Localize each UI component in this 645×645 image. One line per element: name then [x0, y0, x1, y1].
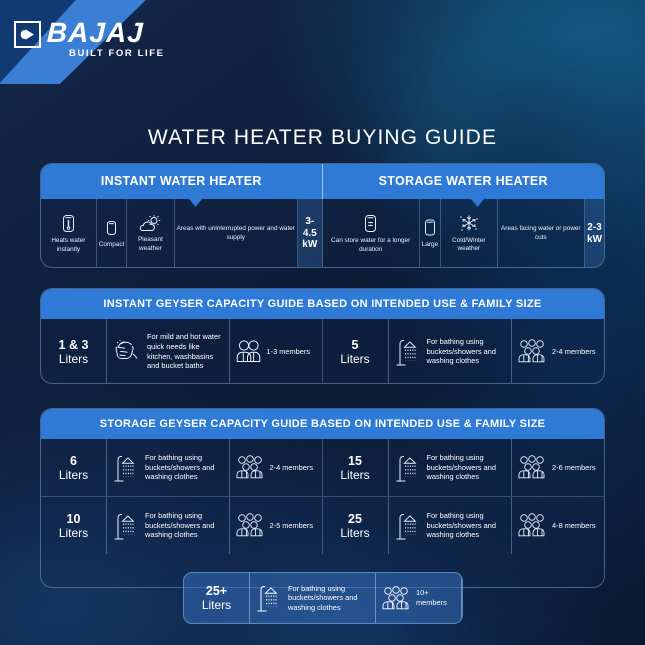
feature-label: Compact [99, 241, 125, 249]
use-text: For mild and hot water quick needs like … [147, 332, 224, 370]
water-heater-large-icon [423, 217, 437, 238]
bajaj-logo: BAJAJ BUILT FOR LIFE [14, 20, 165, 59]
shower-icon [255, 583, 282, 613]
two-people-icon [235, 339, 262, 364]
feature-label: Cold/Winter weather [443, 237, 494, 253]
use-text: For bathing using buckets/showers and wa… [427, 453, 507, 482]
shower-icon [394, 453, 421, 483]
instant-capacity-panel: INSTANT GEYSER CAPACITY GUIDE BASED ON I… [40, 288, 605, 384]
capacity-members: 2-5 members [230, 497, 322, 554]
logo-wordmark: BAJAJ [47, 20, 165, 46]
capacity-liters: 15 Liters [323, 439, 389, 496]
liters-value: 6 [70, 454, 77, 468]
power-value: 2-3 [587, 222, 601, 234]
liters-value: 25+ [206, 584, 227, 598]
storage-water-heater-title: STORAGE WATER HEATER [323, 164, 605, 199]
capacity-liters: 5 Liters [323, 319, 389, 384]
capacity-use: For mild and hot water quick needs like … [107, 319, 230, 384]
feature-label: Areas facing water or power cuts [500, 225, 583, 241]
storage-power-rating: 2-3 kW [585, 199, 604, 268]
use-text: For bathing using buckets/showers and wa… [145, 511, 224, 540]
capacity-entry-final: 25+ Liters For bathing using buckets/sho… [183, 572, 463, 624]
feature-label: Areas with uninterrupted power and water… [177, 225, 295, 241]
table-row: 1 & 3 Liters [41, 319, 604, 384]
water-heater-instant-icon [61, 213, 76, 234]
liters-unit: Liters [340, 526, 369, 540]
group-people-icon [235, 513, 265, 538]
use-text: For bathing using buckets/showers and wa… [427, 511, 507, 540]
instant-water-heater-title: INSTANT WATER HEATER [41, 164, 323, 199]
hand-washing-icon [112, 338, 141, 366]
use-text: For bathing using buckets/showers and wa… [145, 453, 224, 482]
capacity-liters: 10 Liters [41, 497, 107, 554]
feature-large: Large [420, 199, 441, 268]
group-people-icon [517, 339, 547, 364]
heater-types-headers: INSTANT WATER HEATER STORAGE WATER HEATE… [41, 164, 604, 199]
power-value: 3-4.5 [300, 216, 320, 239]
group-people-icon [517, 455, 547, 480]
liters-value: 25 [348, 512, 362, 526]
capacity-liters: 1 & 3 Liters [41, 319, 107, 384]
storage-capacity-panel: STORAGE GEYSER CAPACITY GUIDE BASED ON I… [40, 408, 605, 588]
feature-power-water-supply: Areas with uninterrupted power and water… [175, 199, 298, 268]
members-text: 1-3 members [267, 347, 311, 357]
bajaj-arrow-icon [14, 21, 41, 48]
feature-store-water: Can store water for a longer duration [323, 199, 420, 268]
liters-value: 5 [352, 338, 359, 352]
capacity-use: For bathing using buckets/showers and wa… [389, 497, 513, 554]
feature-water-power-cuts: Areas facing water or power cuts [498, 199, 586, 268]
capacity-use: For bathing using buckets/showers and wa… [250, 573, 376, 623]
table-row: 6 Liters For bathing using buckets/showe… [41, 439, 604, 496]
shower-icon [394, 511, 421, 541]
water-heater-compact-icon [105, 217, 118, 238]
logo-tagline: BUILT FOR LIFE [69, 48, 165, 59]
group-people-icon [517, 513, 547, 538]
liters-unit: Liters [59, 526, 88, 540]
capacity-use: For bathing using buckets/showers and wa… [389, 319, 513, 384]
power-unit: kW [587, 234, 602, 246]
capacity-entry: 15 Liters For bathing using buckets/show… [323, 439, 605, 496]
feature-heats-water-instantly: Heats water instantly [41, 199, 97, 268]
capacity-use: For bathing using buckets/showers and wa… [389, 439, 513, 496]
liters-value: 1 & 3 [59, 338, 89, 352]
feature-pleasant-weather: Pleasant weather [127, 199, 174, 268]
capacity-members: 4-8 members [512, 497, 604, 554]
capacity-entry: 6 Liters For bathing using buckets/showe… [41, 439, 323, 496]
infographic-canvas: BAJAJ BUILT FOR LIFE WATER HEATER BUYING… [0, 0, 645, 645]
liters-value: 10 [67, 512, 81, 526]
page-title: WATER HEATER BUYING GUIDE [0, 126, 645, 150]
feature-label: Heats water instantly [43, 237, 94, 253]
capacity-liters: 25+ Liters [184, 573, 250, 623]
capacity-members: 2-4 members [512, 319, 604, 384]
table-row: 10 Liters For bathing using buckets/show… [41, 497, 604, 554]
liters-unit: Liters [340, 468, 369, 482]
group-people-icon [235, 455, 265, 480]
instant-features: Heats water instantly Compact [41, 199, 323, 268]
shower-icon [112, 511, 139, 541]
liters-unit: Liters [202, 598, 231, 612]
capacity-members: 1-3 members [230, 319, 322, 384]
power-unit: kW [302, 239, 317, 251]
water-heater-storage-icon [363, 213, 378, 234]
instant-power-rating: 3-4.5 kW [298, 199, 322, 268]
capacity-entry: 10 Liters For bathing using buckets/show… [41, 497, 323, 554]
instant-capacity-title: INSTANT GEYSER CAPACITY GUIDE BASED ON I… [41, 289, 604, 319]
storage-capacity-title: STORAGE GEYSER CAPACITY GUIDE BASED ON I… [41, 409, 604, 439]
use-text: For bathing using buckets/showers and wa… [427, 337, 507, 366]
shower-icon [394, 337, 421, 367]
capacity-members: 2-6 members [512, 439, 604, 496]
feature-label: Pleasant weather [129, 236, 171, 252]
members-text: 2-4 members [552, 347, 596, 357]
capacity-entry: 25 Liters For bathing using buckets/show… [323, 497, 605, 554]
feature-cold-winter-weather: Cold/Winter weather [441, 199, 497, 268]
shower-icon [112, 453, 139, 483]
capacity-members: 2-4 members [230, 439, 322, 496]
members-text: 2-5 members [270, 521, 314, 531]
members-text: 2-6 members [552, 463, 596, 473]
capacity-entry: 1 & 3 Liters [41, 319, 323, 384]
use-text: For bathing using buckets/showers and wa… [288, 584, 370, 613]
liters-value: 15 [348, 454, 362, 468]
capacity-use: For bathing using buckets/showers and wa… [107, 439, 230, 496]
feature-label: Can store water for a longer duration [325, 237, 417, 253]
sun-cloud-icon [138, 214, 162, 233]
heater-types-panel: INSTANT WATER HEATER STORAGE WATER HEATE… [40, 163, 605, 268]
capacity-liters: 6 Liters [41, 439, 107, 496]
members-text: 2-4 members [270, 463, 314, 473]
liters-unit: Liters [340, 352, 369, 366]
liters-unit: Liters [59, 468, 88, 482]
group-people-icon [381, 586, 411, 611]
snowflake-icon [458, 214, 480, 234]
members-text: 4-8 members [552, 521, 596, 531]
capacity-members: 10+ members [376, 573, 462, 623]
members-text: 10+ members [416, 588, 456, 607]
feature-compact: Compact [97, 199, 128, 268]
capacity-use: For bathing using buckets/showers and wa… [107, 497, 230, 554]
capacity-entry: 5 Liters [323, 319, 605, 384]
liters-unit: Liters [59, 352, 88, 366]
feature-label: Large [422, 241, 438, 249]
storage-features: Can store water for a longer duration La… [323, 199, 605, 268]
capacity-liters: 25 Liters [323, 497, 389, 554]
